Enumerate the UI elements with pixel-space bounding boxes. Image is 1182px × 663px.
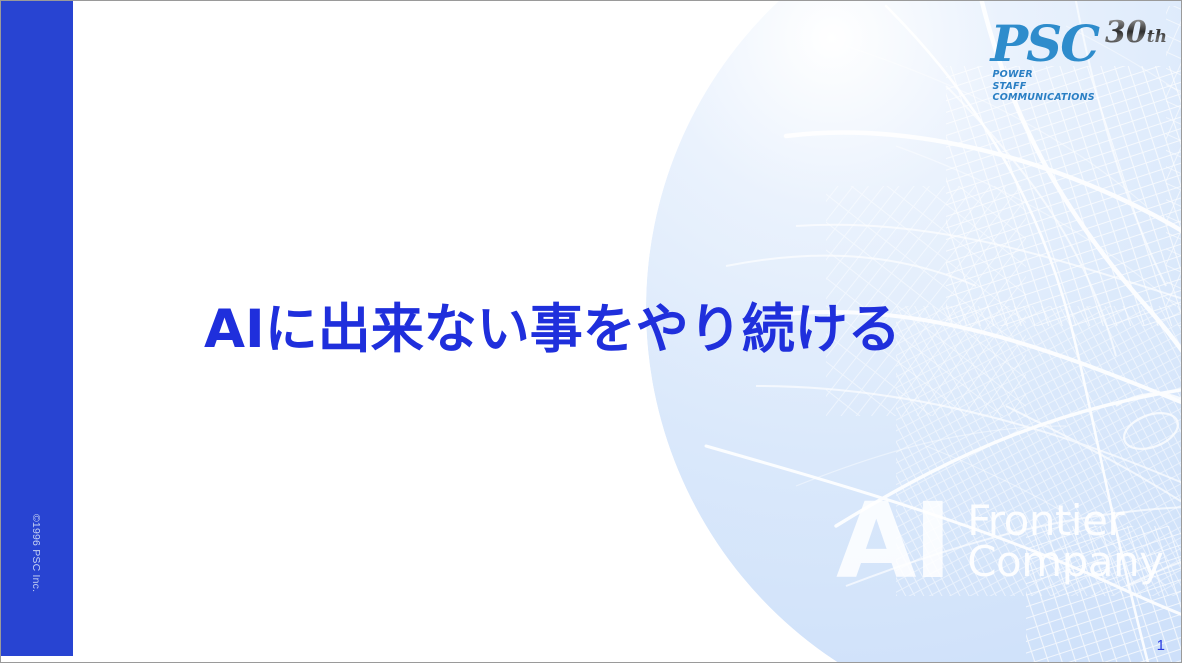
psc-logo: PSC 30th POWER STAFF COMMUNICATIONS [991, 21, 1167, 104]
page-number: 1 [1157, 637, 1165, 654]
anniversary-number: 30 [1105, 15, 1147, 50]
psc-tagline: POWER STAFF COMMUNICATIONS [993, 69, 1167, 104]
anniversary-suffix: th [1147, 27, 1167, 47]
presentation-slide: AI Frontier Company AIに出来ない事をやり続ける ©1996… [0, 0, 1182, 663]
psc-tagline-communications: COMMUNICATIONS [993, 92, 1167, 104]
left-accent-bar: ©1996 PSC Inc. [1, 1, 73, 656]
psc-logo-row: PSC 30th [991, 21, 1167, 67]
psc-wordmark: PSC [991, 21, 1099, 67]
copyright-text: ©1996 PSC Inc. [30, 514, 42, 592]
anniversary-30th-badge: 30th [1105, 18, 1167, 48]
slide-title: AIに出来ない事をやり続ける [204, 287, 901, 363]
psc-tagline-staff: STAFF [993, 81, 1167, 93]
